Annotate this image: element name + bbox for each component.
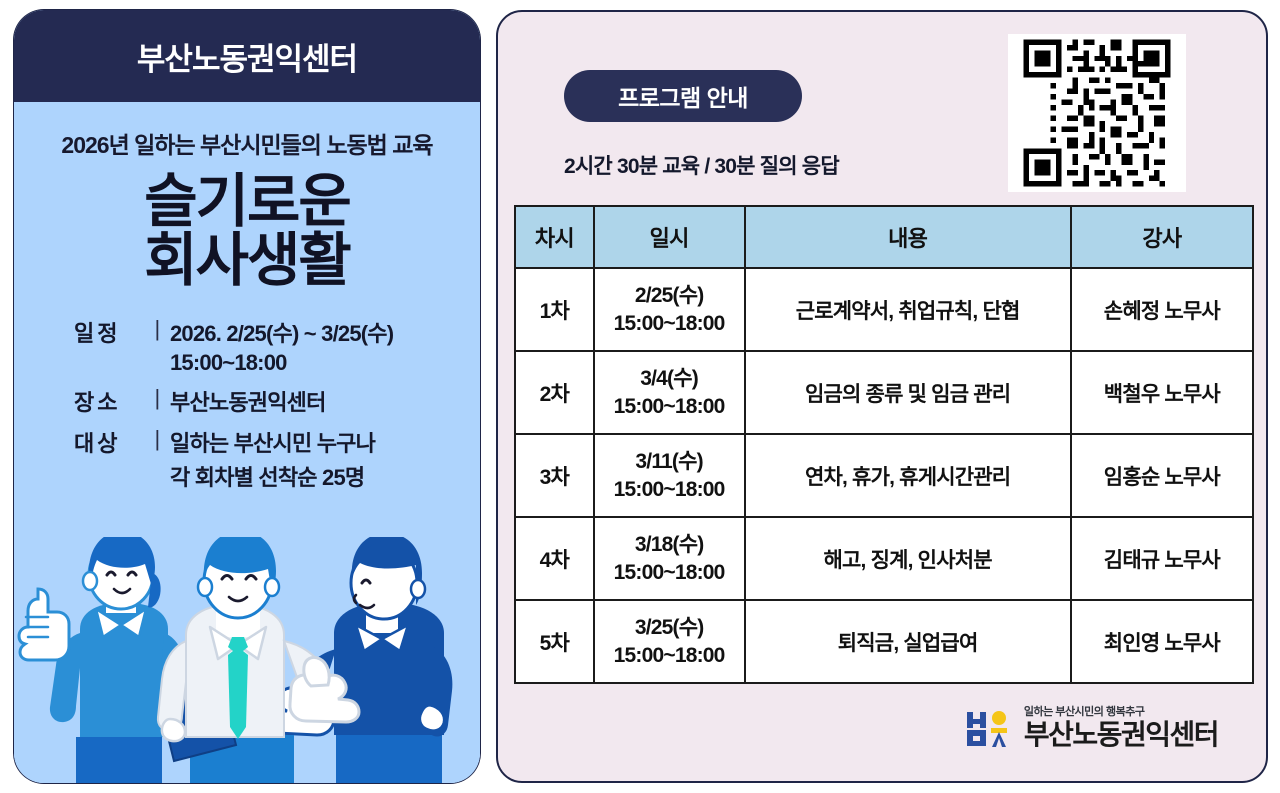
cell-lecturer: 임홍순 노무사 xyxy=(1071,434,1253,517)
organization-name: 부산노동권익센터 xyxy=(137,34,357,79)
cell-date: 3/18(수) xyxy=(596,531,743,559)
col-header-session: 차시 xyxy=(515,206,594,268)
info-separator: | xyxy=(144,316,170,342)
info-value-place: 부산노동권익센터 xyxy=(170,385,326,417)
qr-code-icon[interactable] xyxy=(1008,34,1186,192)
cell-session: 2차 xyxy=(515,351,594,434)
info-label-place: 장소 xyxy=(74,385,144,417)
cell-lecturer: 김태규 노무사 xyxy=(1071,517,1253,600)
cell-session: 3차 xyxy=(515,434,594,517)
cell-datetime: 3/25(수) 15:00~18:00 xyxy=(594,600,745,683)
cell-date: 3/25(수) xyxy=(596,614,743,642)
program-title-line2: 회사생활 xyxy=(14,231,480,290)
info-value-schedule-time: 15:00~18:00 xyxy=(170,350,480,376)
cell-content: 근로계약서, 취업규칙, 단협 xyxy=(745,268,1071,351)
program-info-list: 일정 | 2026. 2/25(수) ~ 3/25(수) 15:00~18:00… xyxy=(74,316,480,492)
table-header-row: 차시 일시 내용 강사 xyxy=(515,206,1253,268)
cell-time: 15:00~18:00 xyxy=(596,559,743,587)
program-subtitle: 2026년 일하는 부산시민들의 노동법 교육 xyxy=(14,126,480,160)
logo-organization-name: 부산노동권익센터 xyxy=(1024,721,1218,749)
cell-content: 임금의 종류 및 임금 관리 xyxy=(745,351,1071,434)
cell-lecturer: 최인영 노무사 xyxy=(1071,600,1253,683)
cell-time: 15:00~18:00 xyxy=(596,476,743,504)
cell-time: 15:00~18:00 xyxy=(596,642,743,670)
cell-date: 3/11(수) xyxy=(596,448,743,476)
logo-text: 일하는 부산시민의 행복추구 부산노동권익센터 xyxy=(1024,707,1218,749)
program-guide-badge: 프로그램 안내 xyxy=(564,70,802,122)
info-value-target-capacity: 각 회차별 선착순 25명 xyxy=(170,460,480,492)
info-row-target: 대상 | 일하는 부산시민 누구나 xyxy=(74,426,480,458)
program-title-line1: 슬기로운 xyxy=(144,169,349,234)
table-row: 3차 3/11(수) 15:00~18:00 연차, 휴가, 휴게시간관리 임홍… xyxy=(515,434,1253,517)
program-title: 슬기로운 회사생활 xyxy=(14,172,480,290)
cell-content: 퇴직금, 실업급여 xyxy=(745,600,1071,683)
info-separator: | xyxy=(144,385,170,411)
table-row: 2차 3/4(수) 15:00~18:00 임금의 종류 및 임금 관리 백철우… xyxy=(515,351,1253,434)
info-separator: | xyxy=(144,426,170,452)
cell-lecturer: 손혜정 노무사 xyxy=(1071,268,1253,351)
office-workers-illustration xyxy=(14,537,480,783)
busan-logo-icon xyxy=(966,708,1012,748)
program-guide-label: 프로그램 안내 xyxy=(618,79,748,113)
duration-note: 2시간 30분 교육 / 30분 질의 응답 xyxy=(564,150,839,180)
cell-datetime: 2/25(수) 15:00~18:00 xyxy=(594,268,745,351)
info-label-target: 대상 xyxy=(74,426,144,458)
left-info-card: 부산노동권익센터 2026년 일하는 부산시민들의 노동법 교육 슬기로운 회사… xyxy=(14,10,480,783)
col-header-lecturer: 강사 xyxy=(1071,206,1253,268)
cell-content: 해고, 징계, 인사처분 xyxy=(745,517,1071,600)
poster-root: 부산노동권익센터 2026년 일하는 부산시민들의 노동법 교육 슬기로운 회사… xyxy=(0,0,1280,793)
info-value-schedule: 2026. 2/25(수) ~ 3/25(수) xyxy=(170,316,393,348)
cell-datetime: 3/11(수) 15:00~18:00 xyxy=(594,434,745,517)
cell-session: 5차 xyxy=(515,600,594,683)
schedule-table: 차시 일시 내용 강사 1차 2/25(수) 15:00~18:00 근로계약서… xyxy=(514,205,1254,684)
cell-lecturer: 백철우 노무사 xyxy=(1071,351,1253,434)
left-card-body: 2026년 일하는 부산시민들의 노동법 교육 슬기로운 회사생활 일정 | 2… xyxy=(14,126,480,783)
program-details-card: 프로그램 안내 2시간 30분 교육 / 30분 질의 응답 xyxy=(496,10,1268,783)
cell-datetime: 3/4(수) 15:00~18:00 xyxy=(594,351,745,434)
cell-date: 3/4(수) xyxy=(596,365,743,393)
cell-content: 연차, 휴가, 휴게시간관리 xyxy=(745,434,1071,517)
cell-date: 2/25(수) xyxy=(596,282,743,310)
info-value-target: 일하는 부산시민 누구나 xyxy=(170,426,375,458)
col-header-content: 내용 xyxy=(745,206,1071,268)
logo-tagline: 일하는 부산시민의 행복추구 xyxy=(1024,707,1218,718)
table-row: 1차 2/25(수) 15:00~18:00 근로계약서, 취업규칙, 단협 손… xyxy=(515,268,1253,351)
info-label-schedule: 일정 xyxy=(74,316,144,348)
center-logo: 일하는 부산시민의 행복추구 부산노동권익센터 xyxy=(966,707,1218,749)
cell-session: 4차 xyxy=(515,517,594,600)
col-header-datetime: 일시 xyxy=(594,206,745,268)
cell-time: 15:00~18:00 xyxy=(596,393,743,421)
info-row-schedule: 일정 | 2026. 2/25(수) ~ 3/25(수) xyxy=(74,316,480,348)
organization-header: 부산노동권익센터 xyxy=(14,10,480,102)
table-row: 5차 3/25(수) 15:00~18:00 퇴직금, 실업급여 최인영 노무사 xyxy=(515,600,1253,683)
table-row: 4차 3/18(수) 15:00~18:00 해고, 징계, 인사처분 김태규 … xyxy=(515,517,1253,600)
cell-datetime: 3/18(수) 15:00~18:00 xyxy=(594,517,745,600)
cell-session: 1차 xyxy=(515,268,594,351)
info-row-place: 장소 | 부산노동권익센터 xyxy=(74,385,480,417)
cell-time: 15:00~18:00 xyxy=(596,310,743,338)
